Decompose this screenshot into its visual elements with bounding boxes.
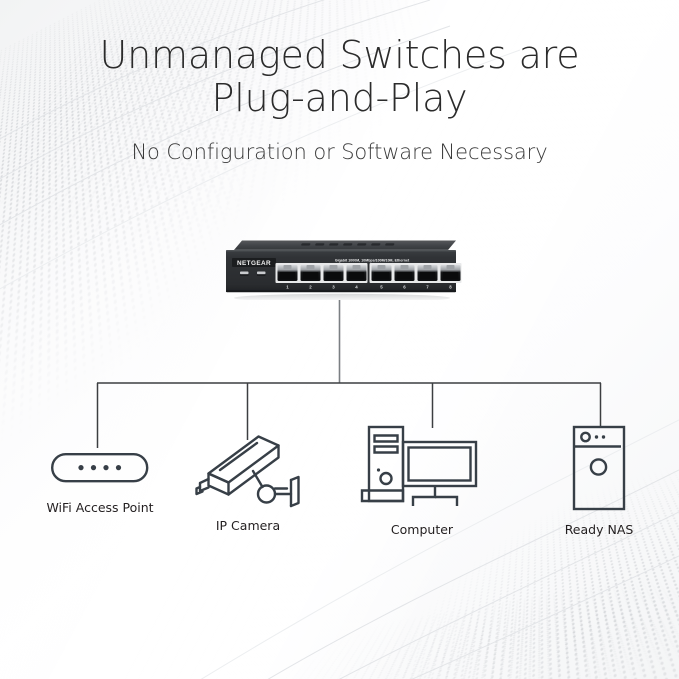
port-group-right bbox=[370, 263, 462, 283]
port-group-left bbox=[276, 263, 368, 283]
node-computer: Computer bbox=[352, 424, 492, 537]
node-ip-camera: IP Camera bbox=[176, 432, 320, 533]
netgear-logo: NETGEAR bbox=[232, 258, 276, 267]
page-subtitle: No Configuration or Software Necessary bbox=[0, 140, 679, 164]
node-ready-nas: Ready NAS bbox=[536, 424, 662, 537]
ready-nas-label: Ready NAS bbox=[536, 522, 662, 537]
switch-panel-label: Gigabit 1000M, 10Mbps/100M/10M, Ethernet bbox=[335, 259, 410, 263]
computer-icon bbox=[360, 424, 484, 512]
infographic-canvas: Unmanaged Switches are Plug-and-Play No … bbox=[0, 0, 679, 679]
page-title-line-1: Unmanaged Switches are bbox=[100, 33, 580, 77]
node-wifi-access-point: WiFi Access Point bbox=[22, 446, 178, 515]
page-title-line-2: Plug-and-Play bbox=[0, 77, 679, 120]
page-title: Unmanaged Switches are Plug-and-Play bbox=[0, 34, 679, 120]
ip-camera-label: IP Camera bbox=[176, 518, 320, 533]
ready-nas-icon bbox=[568, 424, 630, 512]
netgear-switch-image: NETGEAR Gigabit 1000M, 10Mbps/100M/10M, … bbox=[220, 236, 462, 300]
svg-text:NETGEAR: NETGEAR bbox=[237, 260, 271, 267]
wifi-access-point-icon bbox=[50, 446, 150, 490]
wifi-access-point-label: WiFi Access Point bbox=[22, 500, 178, 515]
ip-camera-icon bbox=[195, 432, 301, 508]
computer-label: Computer bbox=[352, 522, 492, 537]
